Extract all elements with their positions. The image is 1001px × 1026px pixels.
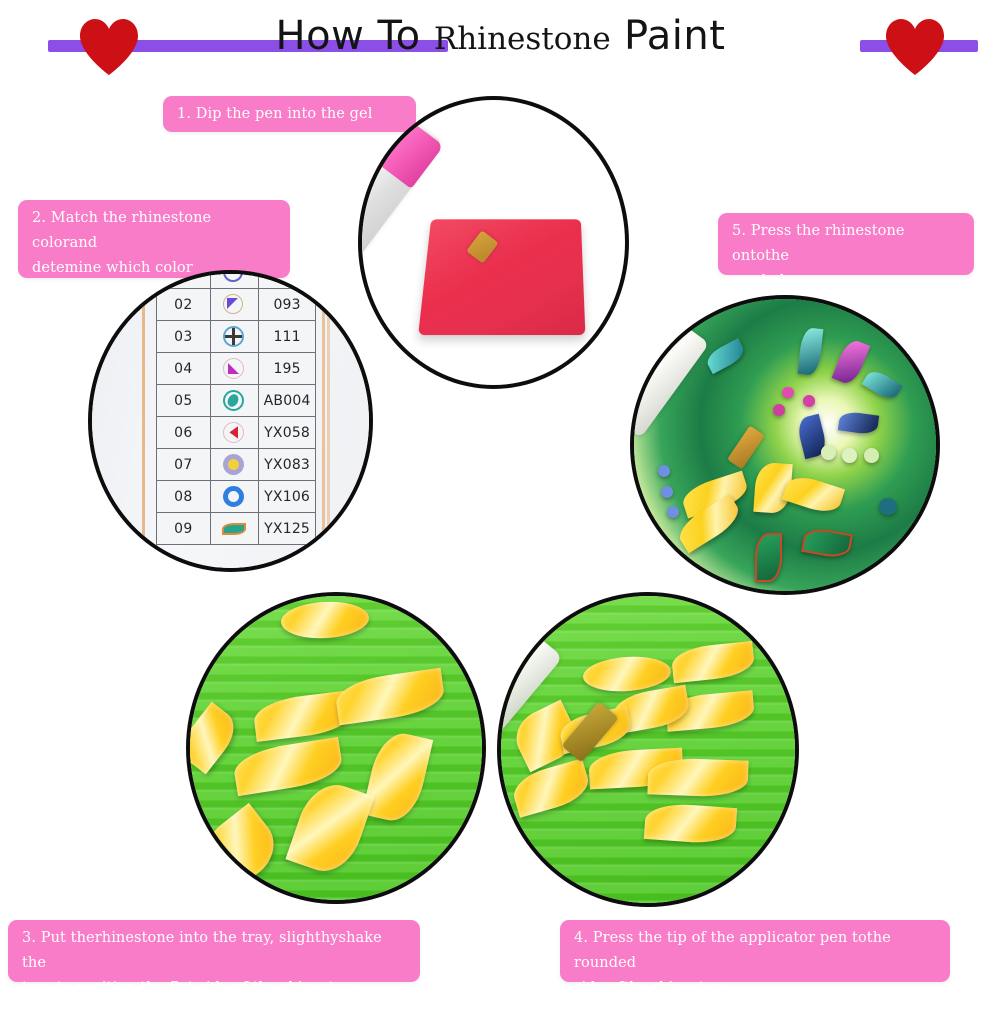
step-2-line-1: 2. Match the rhinestone colorand — [32, 206, 276, 256]
table-row: 03 111 — [156, 321, 316, 353]
pen-pressing-rhinestone-photo — [497, 592, 799, 907]
accent-dot — [842, 448, 857, 463]
triangle-down-symbol — [223, 358, 245, 380]
row-code: AB004 — [258, 385, 315, 417]
tray-scene — [190, 596, 482, 900]
row-code: YX125 — [258, 513, 315, 545]
step-3-line-1: 3. Put therhinestone into the tray, slig… — [22, 926, 406, 976]
row-number: 07 — [156, 449, 210, 481]
accent-dot — [879, 498, 897, 516]
table-row: 09 YX125 — [156, 513, 316, 545]
accent-dot — [773, 404, 785, 416]
step-5-callout: 5. Press the rhinestone ontothe symbol. — [718, 213, 974, 275]
chart-binding-edge — [322, 270, 325, 572]
row-symbol — [210, 513, 258, 545]
press-scene — [501, 596, 795, 903]
rhinestone-on-symbol-photo — [630, 295, 940, 595]
row-number: 08 — [156, 481, 210, 513]
gel-pad — [418, 219, 585, 334]
color-legend-table: 020 02 093 03 — [156, 270, 317, 545]
infographic-canvas: How To Rhinestone Paint 1. Dip the pen i… — [0, 0, 1001, 1001]
title-segment-paint: Paint — [611, 13, 726, 59]
pen-gel-scene — [362, 100, 625, 385]
rhinestones-in-tray-photo — [186, 592, 486, 904]
marquise-symbol — [223, 518, 245, 540]
row-code: YX083 — [258, 449, 315, 481]
row-symbol — [210, 449, 258, 481]
rhinestone — [644, 802, 737, 845]
step-2-callout: 2. Match the rhinestone colorand detemin… — [18, 200, 290, 278]
step-4-callout: 4. Press the tip of the applicator pen t… — [560, 920, 950, 982]
step-3-callout: 3. Put therhinestone into the tray, slig… — [8, 920, 420, 982]
step-4-line-1: 4. Press the tip of the applicator pen t… — [574, 926, 936, 976]
row-code: 093 — [258, 289, 315, 321]
header: How To Rhinestone Paint — [0, 0, 1001, 88]
row-symbol — [210, 289, 258, 321]
face-circle-symbol — [223, 270, 245, 284]
row-code: 111 — [258, 321, 315, 353]
row-number: 02 — [156, 289, 210, 321]
table-row: 04 195 — [156, 353, 316, 385]
accent-dot — [661, 486, 673, 498]
row-number: 06 — [156, 417, 210, 449]
row-code: YX106 — [258, 481, 315, 513]
row-number: 09 — [156, 513, 210, 545]
rhinestone — [647, 757, 748, 797]
step-3-line-2: tray to position the flat side of the rh… — [22, 976, 406, 1026]
table-row: 05 AB004 — [156, 385, 316, 417]
plus-circle-symbol — [223, 326, 245, 348]
step-5-line-2: symbol. — [732, 269, 960, 294]
green-symbol — [755, 533, 782, 583]
table-row: 07 YX083 — [156, 449, 316, 481]
row-symbol — [210, 481, 258, 513]
table-row: 08 YX106 — [156, 481, 316, 513]
chart-binding-edge — [327, 270, 330, 572]
color-chart-photo: 020 02 093 03 — [88, 270, 373, 572]
chart-binding-edge — [142, 270, 145, 572]
accent-dot — [821, 445, 836, 460]
table-row: 06 YX058 — [156, 417, 316, 449]
triangle-symbol — [223, 294, 245, 316]
page-title: How To Rhinestone Paint — [0, 16, 1001, 56]
oval-slash-symbol — [223, 390, 245, 412]
color-chart-scene: 020 02 093 03 — [92, 274, 369, 568]
chevron-left-symbol — [223, 422, 245, 444]
row-code: 195 — [258, 353, 315, 385]
row-symbol — [210, 270, 258, 289]
row-number: 05 — [156, 385, 210, 417]
ring-symbol — [223, 486, 245, 508]
row-symbol — [210, 321, 258, 353]
row-symbol — [210, 417, 258, 449]
step-4-line-2: side ofthe rhinestone — [574, 976, 936, 1001]
dot-ring-symbol — [223, 454, 245, 476]
title-segment-rhinestone: Rhinestone — [434, 21, 611, 57]
row-number: 03 — [156, 321, 210, 353]
row-symbol — [210, 385, 258, 417]
pen-dipping-in-gel-photo — [358, 96, 629, 389]
title-segment-how-to: How To — [276, 13, 434, 59]
row-symbol — [210, 353, 258, 385]
table-row: 02 093 — [156, 289, 316, 321]
row-code: YX058 — [258, 417, 315, 449]
accent-dot — [864, 448, 879, 463]
row-number: 04 — [156, 353, 210, 385]
mandala-scene — [634, 299, 936, 591]
step-5-line-1: 5. Press the rhinestone ontothe — [732, 219, 960, 269]
